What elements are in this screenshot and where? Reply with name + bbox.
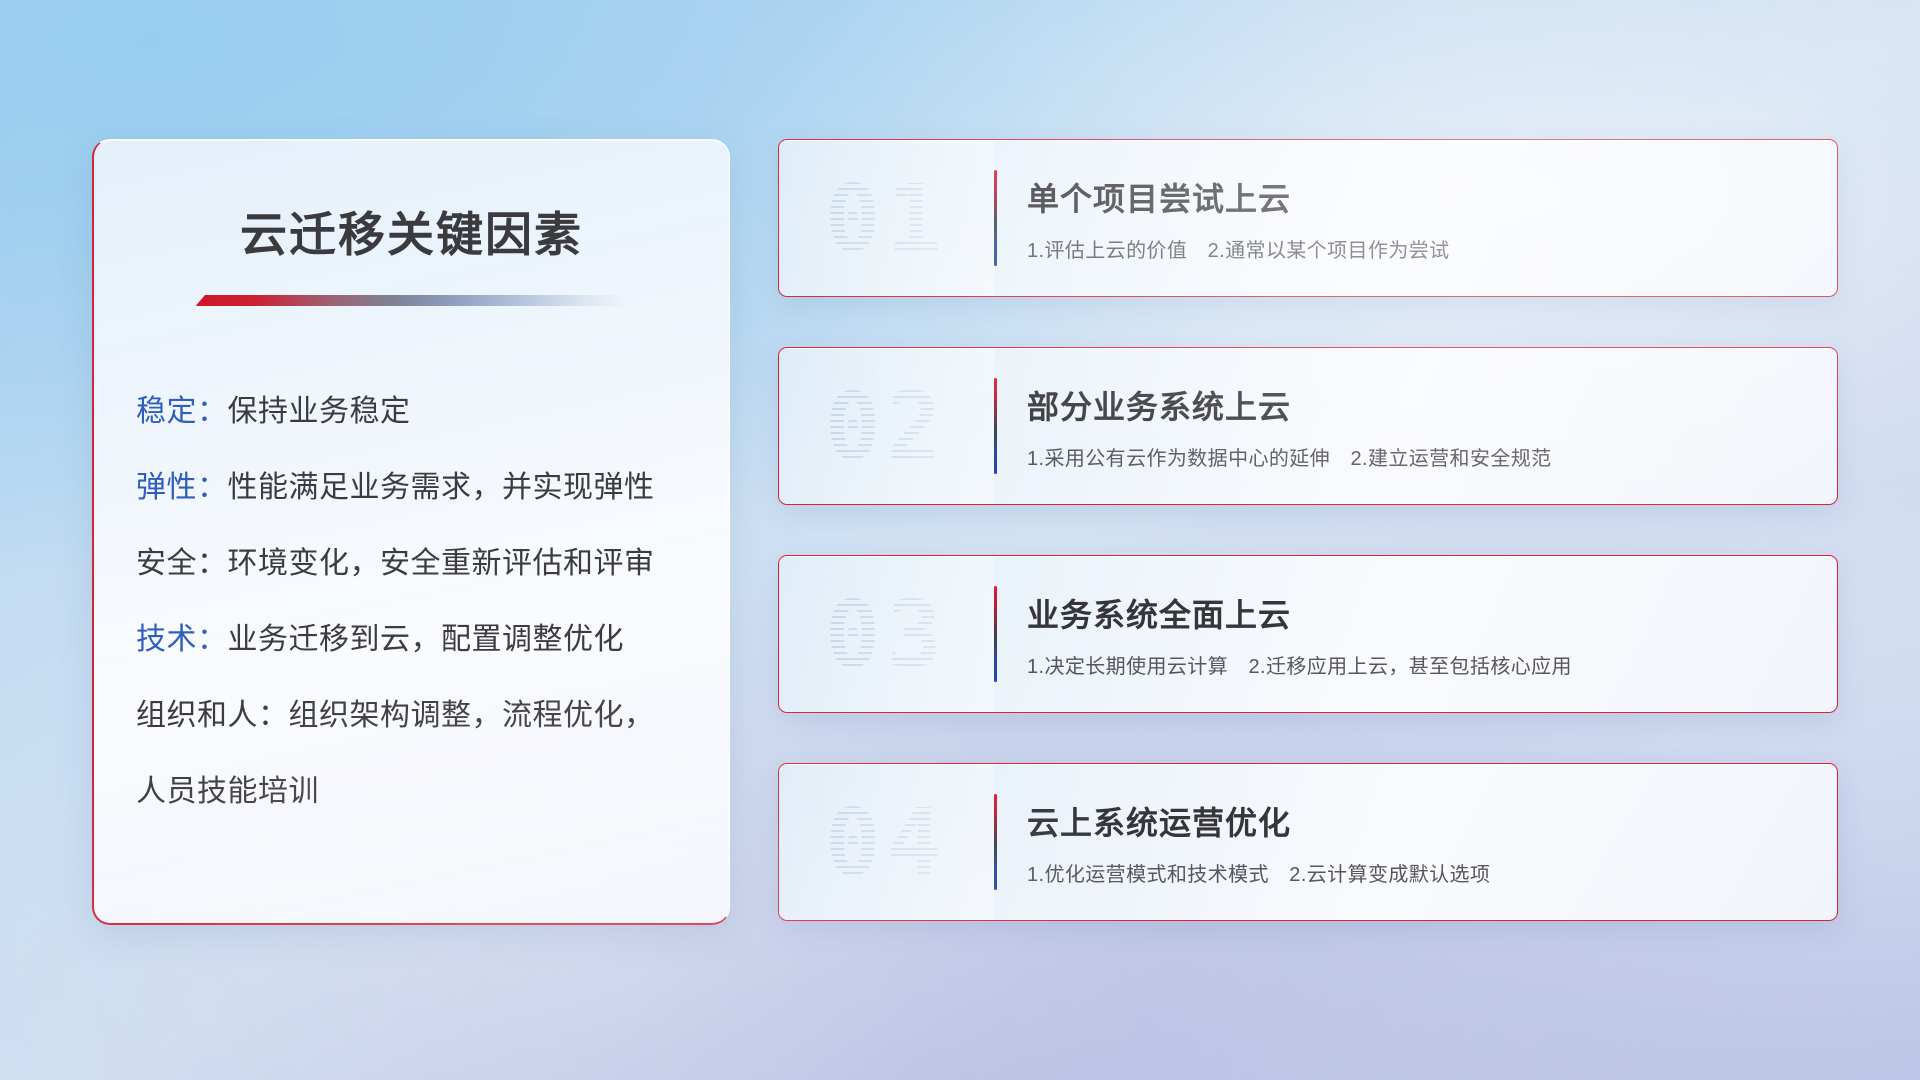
step-card-02[interactable]: 02 部分业务系统上云 1.采用公有云作为数据中心的延伸 2.建立运营和安全规范	[778, 347, 1838, 505]
factor-text: 环境变化，安全重新评估和评审	[228, 547, 655, 580]
step-card-01[interactable]: 01 单个项目尝试上云 1.评估上云的价值 2.通常以某个项目作为尝试	[778, 139, 1838, 297]
step-number-decoration: 04	[779, 764, 994, 920]
factor-label: 安全	[136, 547, 197, 580]
factor-separator: ：	[197, 395, 228, 428]
list-item: 稳定：保持业务稳定	[136, 374, 699, 450]
factor-separator: ：	[197, 471, 228, 504]
step-title: 业务系统全面上云	[1027, 590, 1572, 636]
step-title: 单个项目尝试上云	[1027, 174, 1450, 220]
factor-text: 组织架构调整，流程优化，	[289, 699, 655, 732]
step-title: 云上系统运营优化	[1027, 798, 1490, 844]
factor-text: 性能满足业务需求，并实现弹性	[228, 471, 655, 504]
list-item: 安全：环境变化，安全重新评估和评审	[136, 526, 699, 602]
step-description: 1.评估上云的价值 2.通常以某个项目作为尝试	[1027, 234, 1450, 263]
factor-separator: ：	[197, 547, 228, 580]
step-content: 业务系统全面上云 1.决定长期使用云计算 2.迁移应用上云，甚至包括核心应用	[997, 590, 1572, 679]
step-content: 部分业务系统上云 1.采用公有云作为数据中心的延伸 2.建立运营和安全规范	[997, 382, 1552, 471]
list-item: 弹性：性能满足业务需求，并实现弹性	[136, 450, 699, 526]
factor-label: 稳定	[136, 395, 197, 428]
step-number-decoration: 01	[779, 140, 994, 296]
step-description: 1.采用公有云作为数据中心的延伸 2.建立运营和安全规范	[1027, 442, 1552, 471]
migration-steps-list: 01 单个项目尝试上云 1.评估上云的价值 2.通常以某个项目作为尝试 02 部…	[778, 139, 1838, 921]
factor-text-continuation: 人员技能培训	[136, 754, 699, 830]
step-number-decoration: 02	[779, 348, 994, 504]
page-title: 云迁移关键因素	[94, 196, 729, 265]
step-description: 1.决定长期使用云计算 2.迁移应用上云，甚至包括核心应用	[1027, 650, 1572, 679]
factor-separator: ：	[197, 623, 228, 656]
factor-first-line: 组织和人：组织架构调整，流程优化，	[136, 678, 699, 754]
title-underline-decoration	[196, 295, 628, 306]
step-card-04[interactable]: 04 云上系统运营优化 1.优化运营模式和技术模式 2.云计算变成默认选项	[778, 763, 1838, 921]
step-number-decoration: 03	[779, 556, 994, 712]
factor-separator: ：	[258, 699, 289, 732]
factor-label: 组织和人	[136, 699, 258, 732]
step-content: 云上系统运营优化 1.优化运营模式和技术模式 2.云计算变成默认选项	[997, 798, 1490, 887]
step-content: 单个项目尝试上云 1.评估上云的价值 2.通常以某个项目作为尝试	[997, 174, 1450, 263]
list-item: 组织和人：组织架构调整，流程优化， 人员技能培训	[136, 678, 699, 830]
factor-text: 业务迁移到云，配置调整优化	[228, 623, 625, 656]
step-card-03[interactable]: 03 业务系统全面上云 1.决定长期使用云计算 2.迁移应用上云，甚至包括核心应…	[778, 555, 1838, 713]
step-title: 部分业务系统上云	[1027, 382, 1552, 428]
key-factors-panel: 云迁移关键因素 稳定：保持业务稳定 弹性：性能满足业务需求，并实现弹性 安全：环…	[92, 139, 730, 925]
step-description: 1.优化运营模式和技术模式 2.云计算变成默认选项	[1027, 858, 1490, 887]
factor-text: 保持业务稳定	[228, 395, 411, 428]
slide-canvas: 云迁移关键因素 稳定：保持业务稳定 弹性：性能满足业务需求，并实现弹性 安全：环…	[0, 0, 1920, 1080]
list-item: 技术：业务迁移到云，配置调整优化	[136, 602, 699, 678]
factor-label: 弹性	[136, 471, 197, 504]
key-factors-list: 稳定：保持业务稳定 弹性：性能满足业务需求，并实现弹性 安全：环境变化，安全重新…	[94, 374, 729, 830]
factor-label: 技术	[136, 623, 197, 656]
